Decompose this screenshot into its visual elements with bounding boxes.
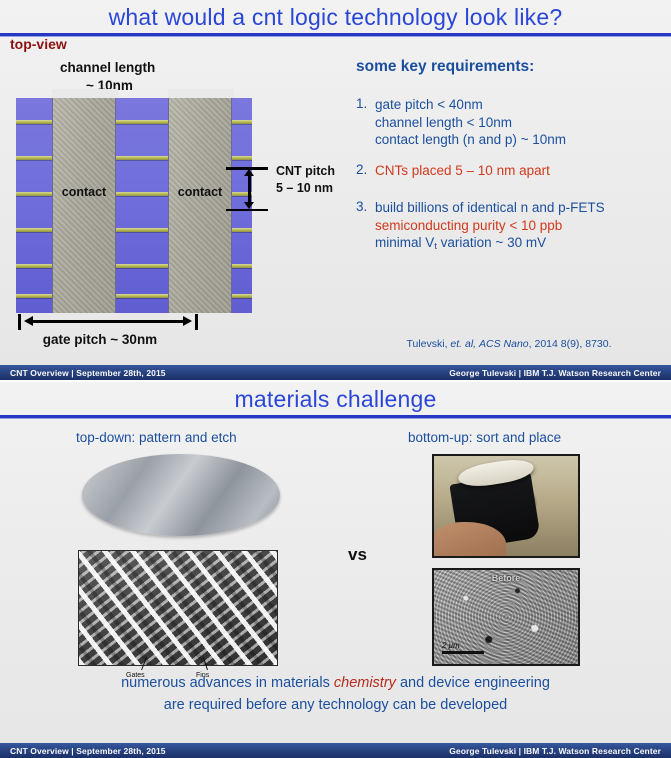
requirement-item: 1. gate pitch < 40nm channel length < 10… <box>356 96 666 149</box>
footer-right-text: George Tulevski | IBM T.J. Watson Resear… <box>449 368 661 378</box>
gate-pitch-arrow <box>18 314 198 330</box>
contact-left-label: contact <box>53 185 115 199</box>
cnt-device-figure: channel length ~ 10nm contact co <box>0 56 340 356</box>
slide-materials-challenge: materials challenge top-down: pattern an… <box>0 382 671 758</box>
slide2-title: materials challenge <box>0 382 671 415</box>
cnt-deposition-sem-image: Before 2 μm <box>432 568 580 666</box>
citation-author: Tulevski, <box>406 338 447 350</box>
arrow-shaft <box>248 175 251 203</box>
requirement-number: 3. <box>356 199 375 256</box>
arrow-right-head <box>183 316 192 326</box>
footer-left-text: CNT Overview | September 28th, 2015 <box>10 746 166 756</box>
citation-etal: et. al, <box>450 338 476 350</box>
scale-bar: 2 μm <box>442 641 484 654</box>
closing-text-b: and device engineering <box>396 675 550 691</box>
cnt-solution-photo <box>432 454 580 558</box>
closing-line-1: numerous advances in materials chemistry… <box>0 672 671 694</box>
closing-statement: numerous advances in materials chemistry… <box>0 672 671 716</box>
gate-pitch-label: gate pitch ~ 30nm <box>0 332 200 347</box>
cnt-pitch-callout: CNT pitch 5 – 10 nm <box>224 167 340 211</box>
contact-block-right: contact <box>168 89 232 317</box>
tick-right <box>195 314 198 330</box>
footer-left-text: CNT Overview | September 28th, 2015 <box>10 368 166 378</box>
citation-rest: , 2014 8(9), 8730. <box>529 338 612 350</box>
requirement-number: 1. <box>356 96 375 149</box>
requirement-line: build billions of identical n and p-FETS <box>375 199 666 217</box>
title-divider <box>0 33 671 36</box>
requirement-line: contact length (n and p) ~ 10nm <box>375 131 666 149</box>
closing-text-a: numerous advances in materials <box>121 675 334 691</box>
citation: Tulevski, et. al, ACS Nano, 2014 8(9), 8… <box>356 338 662 350</box>
silicon-wafer-image <box>82 454 280 536</box>
requirements-list: 1. gate pitch < 40nm channel length < 10… <box>356 96 666 269</box>
contact-right-label: contact <box>169 185 231 199</box>
tick-left <box>18 314 21 330</box>
requirement-lines: gate pitch < 40nm channel length < 10nm … <box>375 96 666 149</box>
device-cross-section: contact contact <box>16 98 252 313</box>
requirement-line: minimal Vt variation ~ 30 mV <box>375 234 666 256</box>
arrow-shaft <box>30 320 186 323</box>
title-divider <box>0 415 671 418</box>
requirements-heading: some key requirements: <box>356 58 534 76</box>
vs-label: vs <box>348 545 367 565</box>
requirement-item: 2. CNTs placed 5 – 10 nm apart <box>356 162 666 180</box>
slide-cnt-logic-technology: what would a cnt logic technology look l… <box>0 0 671 380</box>
sem-before-label: Before <box>434 573 578 583</box>
closing-line-2: are required before any technology can b… <box>0 694 671 716</box>
mask-top-right <box>168 89 234 98</box>
slide1-title: what would a cnt logic technology look l… <box>0 0 671 33</box>
requirement-lines: build billions of identical n and p-FETS… <box>375 199 666 256</box>
finfet-sem-image <box>78 550 278 666</box>
requirement-item: 3. build billions of identical n and p-F… <box>356 199 666 256</box>
top-view-label: top-view <box>10 36 67 52</box>
subtitle-top-down: top-down: pattern and etch <box>76 430 237 445</box>
channel-length-caption: channel length <box>60 60 155 75</box>
arrow-down-head <box>244 202 254 209</box>
requirement-line: channel length < 10nm <box>375 114 666 132</box>
pitch-vertical-arrow <box>244 169 254 209</box>
slide2-footer: CNT Overview | September 28th, 2015 Geor… <box>0 743 671 758</box>
subtitle-bottom-up: bottom-up: sort and place <box>408 430 561 445</box>
slide1-footer: CNT Overview | September 28th, 2015 Geor… <box>0 365 671 380</box>
footer-right-text: George Tulevski | IBM T.J. Watson Resear… <box>449 746 661 756</box>
slide-deck: what would a cnt logic technology look l… <box>0 0 671 758</box>
cnt-pitch-value: 5 – 10 nm <box>276 181 333 195</box>
requirement-number: 2. <box>356 162 375 180</box>
scale-bar-line <box>442 651 484 654</box>
cnt-pitch-label: CNT pitch <box>276 164 335 178</box>
mask-top-left <box>52 89 118 98</box>
requirement-line: gate pitch < 40nm <box>375 96 666 114</box>
vt-line-text: minimal Vt variation ~ 30 mV <box>375 235 546 250</box>
contact-block-left: contact <box>52 89 116 317</box>
citation-journal: ACS Nano <box>479 338 529 350</box>
requirement-line: CNTs placed 5 – 10 nm apart <box>375 162 666 180</box>
closing-emphasis: chemistry <box>334 675 396 691</box>
scale-bar-label: 2 μm <box>442 641 484 650</box>
requirement-lines: CNTs placed 5 – 10 nm apart <box>375 162 666 180</box>
requirement-line: semiconducting purity < 10 ppb <box>375 217 666 235</box>
